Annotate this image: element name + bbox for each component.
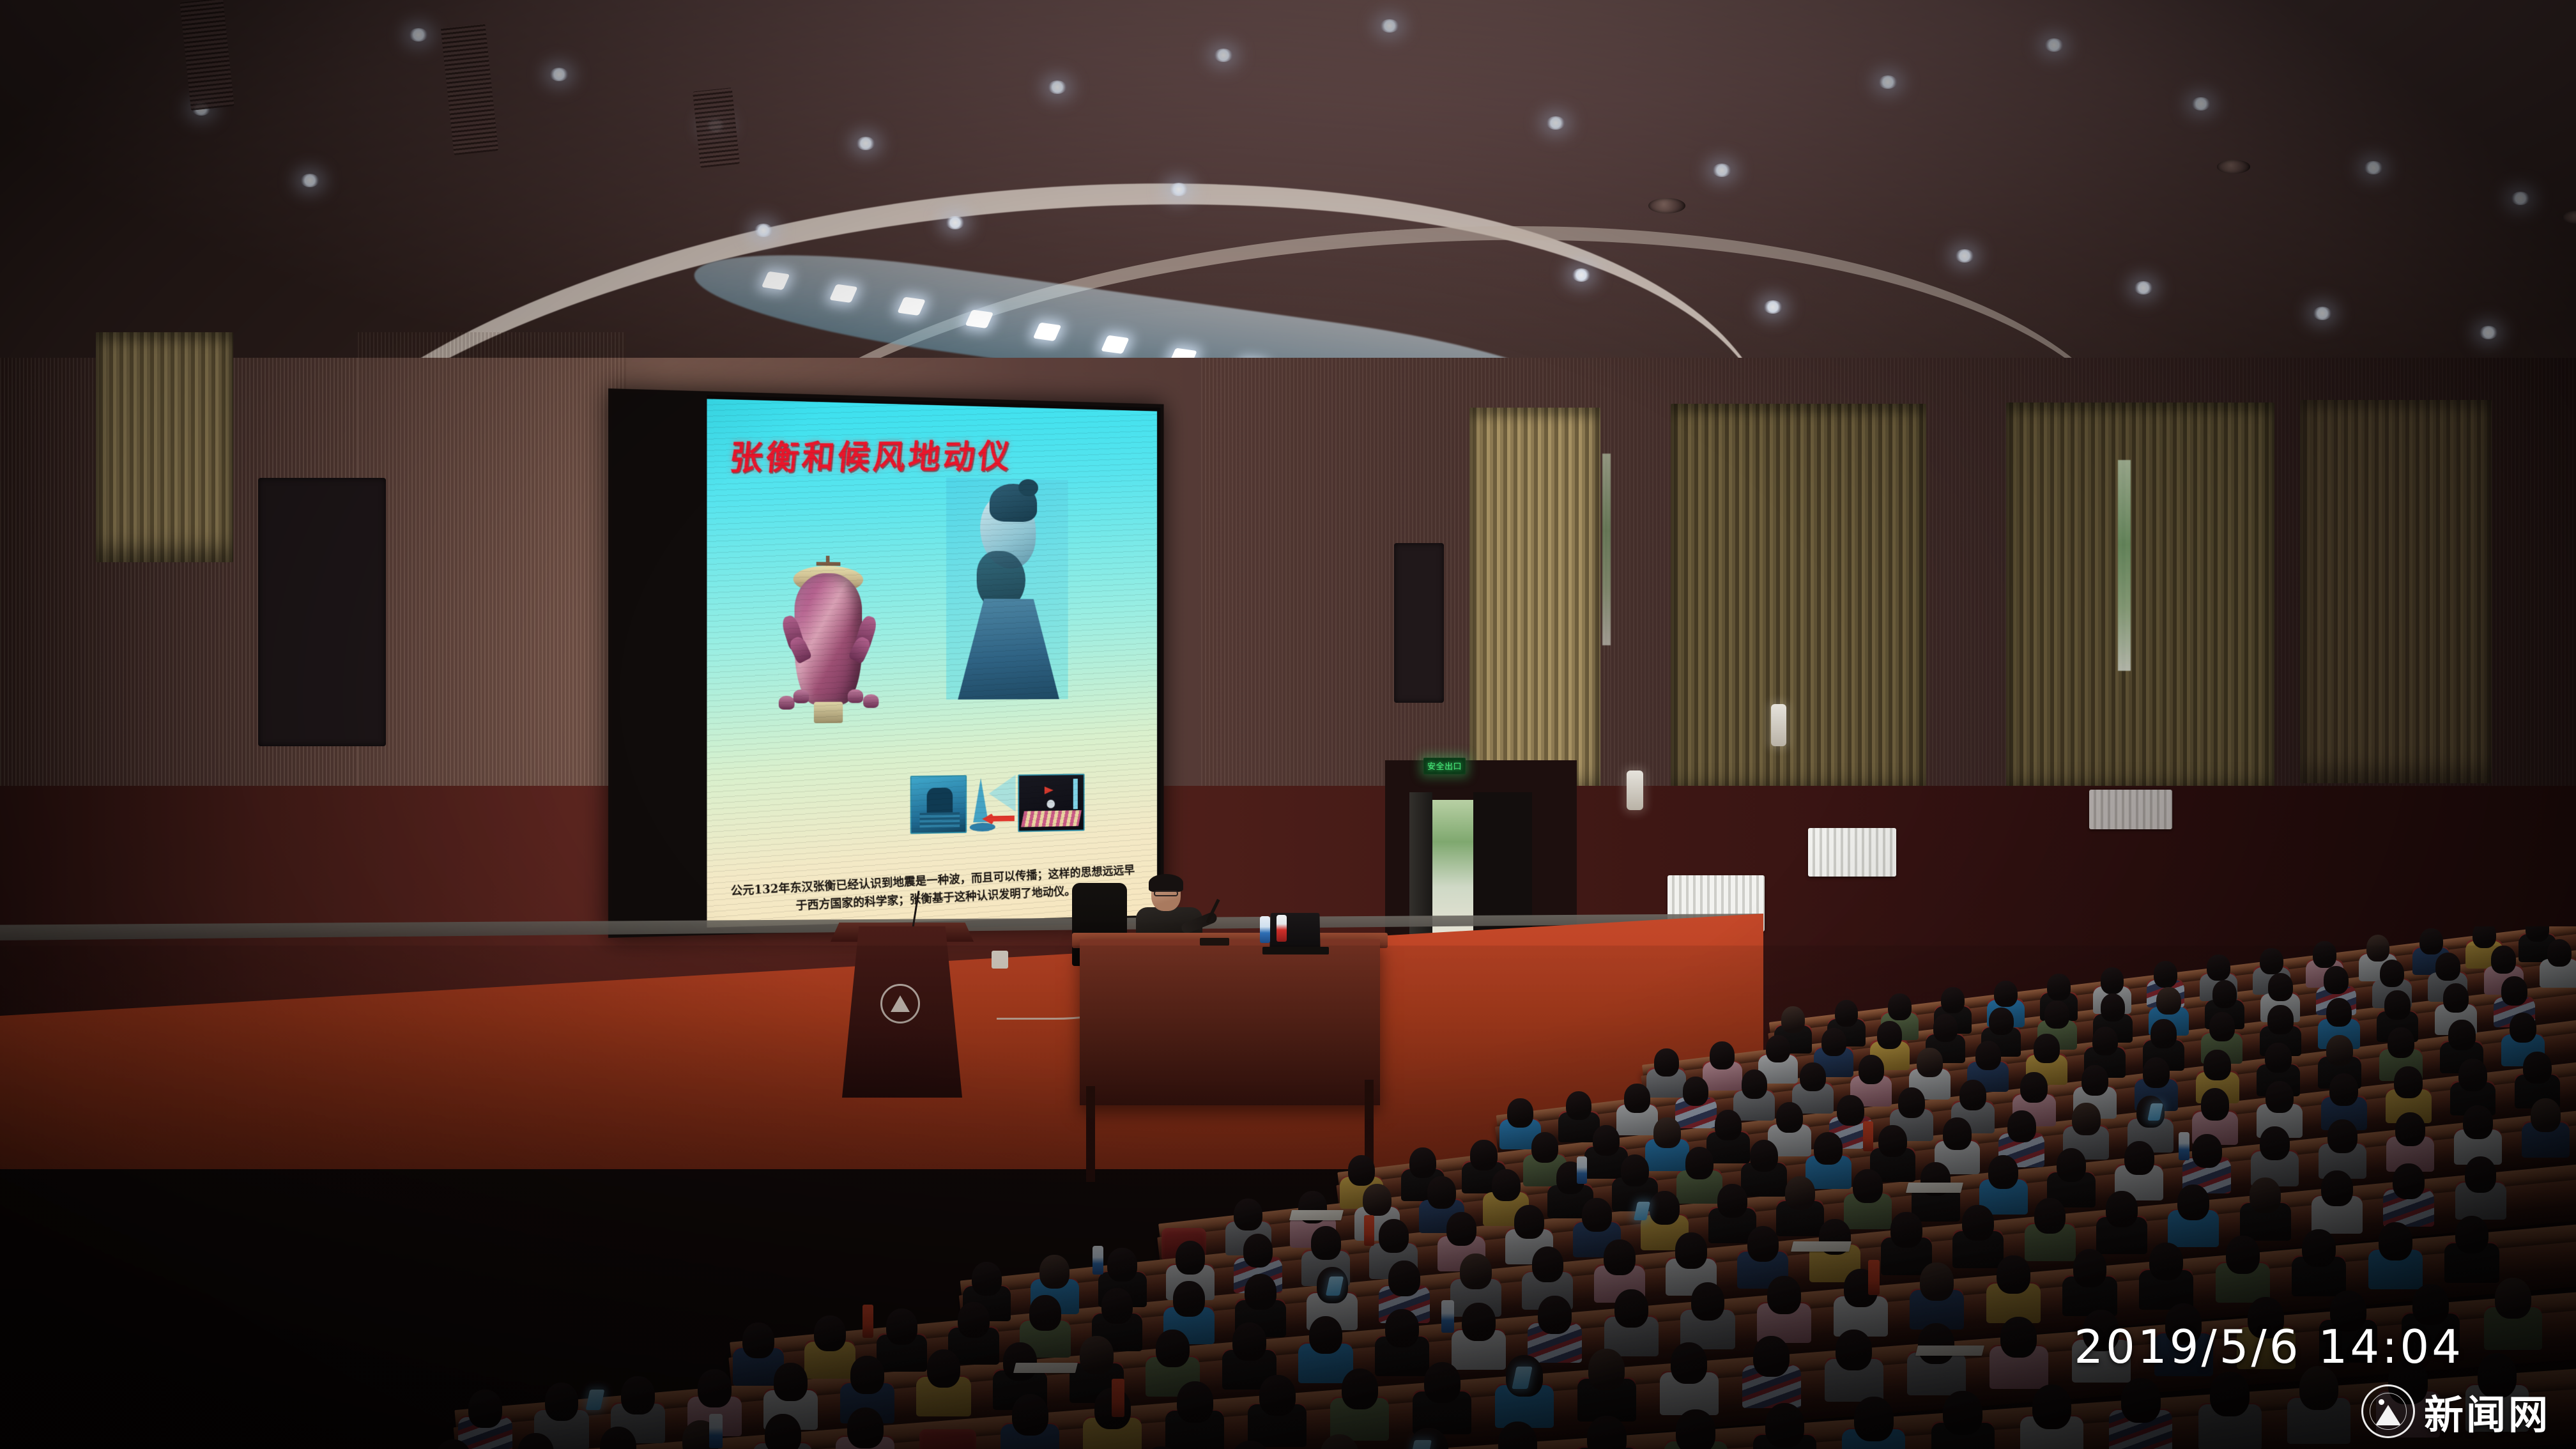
downlight — [2313, 307, 2332, 320]
photo-timestamp: 2019/5/6 14:04 — [2074, 1320, 2464, 1374]
audience-head — [1878, 1125, 1907, 1157]
downlight — [1169, 183, 1188, 196]
wall-sconce-door — [1627, 770, 1643, 810]
audience-head — [1683, 1077, 1708, 1106]
water-bottle — [709, 1414, 723, 1449]
audience-head — [1342, 1368, 1378, 1409]
audience-head — [1309, 1316, 1343, 1354]
audience-head — [1446, 1212, 1476, 1246]
thermos-bottle — [1112, 1379, 1124, 1417]
audience-head — [2465, 1156, 2497, 1192]
audience-head — [1039, 1255, 1069, 1289]
audience-head — [2380, 960, 2405, 988]
audience-head — [1379, 1219, 1409, 1253]
presentation-slide: 张衡和候风地动仪 — [707, 399, 1157, 927]
audience-head — [1176, 1241, 1206, 1275]
audience-head — [2268, 973, 2293, 1001]
audience-head — [2210, 1372, 2250, 1416]
audience-head — [2495, 1278, 2531, 1319]
audience-head — [1462, 1303, 1496, 1341]
audience-head — [1348, 1155, 1375, 1186]
audience-head — [1243, 1234, 1273, 1268]
downlight — [2364, 161, 2383, 174]
water-bottle — [1092, 1246, 1103, 1275]
toad-left-1 — [778, 696, 794, 710]
audience-head — [1101, 1288, 1133, 1324]
audience-head — [1388, 1261, 1420, 1296]
audience-head — [2501, 976, 2527, 1006]
audience-head — [2121, 1378, 2161, 1423]
audience-head — [2250, 1177, 2281, 1213]
audience-head — [2458, 1059, 2487, 1091]
paper-sheet — [1791, 1241, 1851, 1252]
audience-head — [1259, 1375, 1296, 1416]
audience-head — [2073, 1249, 2107, 1287]
curtain-left — [96, 332, 233, 562]
downlight — [1878, 75, 1897, 89]
downlight — [1214, 49, 1233, 62]
toad-right-1 — [847, 689, 862, 703]
audience-head — [545, 1383, 579, 1421]
audience-head — [2448, 1020, 2475, 1050]
downlight — [1712, 164, 1731, 177]
audience-head — [1814, 1132, 1843, 1164]
audience-head — [1424, 1362, 1460, 1403]
audience-head — [1853, 1169, 1883, 1203]
downlight — [409, 28, 428, 42]
thermos-bottle — [862, 1305, 873, 1338]
lecture-hall-photo: 安全出口 张衡和候风地动仪 — [0, 0, 2576, 1449]
audience-head — [1785, 1176, 1815, 1210]
screen-black-mask — [612, 392, 707, 934]
audience-head — [2204, 1050, 2230, 1080]
ceiling-air-vent — [180, 0, 234, 111]
wall-speaker-panel-left — [258, 478, 386, 746]
audience-head — [1507, 1098, 1533, 1128]
audience-head — [1888, 993, 1912, 1020]
audience-head — [1470, 1140, 1497, 1170]
audience-head — [1747, 1226, 1779, 1262]
audience-head — [1003, 1342, 1037, 1381]
audience-head — [1742, 1069, 1767, 1099]
audience-head — [1837, 1095, 1864, 1126]
audience-head — [1566, 1091, 1591, 1121]
audience-head — [1029, 1295, 1061, 1331]
water-bottle — [2179, 1132, 2189, 1161]
audience-head — [2379, 1222, 2412, 1261]
audience-head — [2092, 1027, 2118, 1056]
thumbnail-experiment-photo — [1018, 774, 1084, 832]
audience-head — [2007, 1110, 2036, 1142]
seismograph-illustration — [778, 548, 880, 736]
audience-head — [468, 1390, 502, 1428]
downlight — [549, 68, 569, 81]
audience-head — [1988, 1155, 2018, 1189]
audience-head — [2150, 1019, 2176, 1048]
downlight — [2191, 97, 2211, 111]
audience-head — [1854, 1397, 1894, 1441]
ceiling-air-vent — [693, 88, 740, 168]
audience-head — [927, 1349, 961, 1388]
thumbnail-red-marker — [1044, 786, 1053, 795]
thumbnail-vertical-bar — [1073, 779, 1077, 809]
audience-head — [1975, 1041, 2001, 1070]
audience-head — [2455, 1216, 2489, 1254]
audience-head — [2472, 926, 2496, 948]
audience-head — [2366, 935, 2390, 962]
audience-head — [1492, 1169, 1521, 1201]
audience-head — [1385, 1309, 1419, 1347]
university-logo-icon — [2361, 1384, 2415, 1438]
audience-head — [2081, 1065, 2108, 1096]
radiator-2 — [1808, 828, 1896, 877]
audience-head — [1959, 1080, 1986, 1110]
wall-sconce-right — [1771, 704, 1786, 746]
audience-head — [1943, 1391, 1982, 1436]
audience-head — [1800, 1062, 1825, 1092]
downlight — [856, 137, 875, 150]
audience-head — [2226, 1236, 2260, 1274]
paper-sheet — [1906, 1183, 1963, 1193]
audience-head — [1776, 1102, 1803, 1133]
audience-head — [2124, 1141, 2154, 1175]
ceiling-speaker — [2217, 160, 2250, 174]
audience-head — [1750, 1140, 1779, 1172]
audience-head — [2000, 1317, 2037, 1358]
thumbnail-tray — [1021, 810, 1082, 827]
audience-head — [2321, 1170, 2353, 1206]
audience-head — [2326, 998, 2352, 1027]
audience-head — [2463, 1105, 2493, 1139]
audience-head — [2384, 990, 2410, 1020]
audience-head — [2020, 1072, 2047, 1103]
audience-head — [1107, 1248, 1137, 1282]
seismograph-base — [814, 702, 843, 723]
audience-head — [2302, 1229, 2336, 1268]
portrait-topknot — [1018, 479, 1038, 496]
exit-sign-label: 安全出口 — [1427, 762, 1462, 770]
audience-head — [2044, 1000, 2069, 1029]
audience-head — [1877, 1021, 1902, 1049]
downlight — [1572, 268, 1591, 282]
audience-head — [1234, 1199, 1262, 1230]
audience-head — [1898, 1087, 1925, 1118]
downlight — [300, 174, 319, 187]
toad-right-2 — [863, 694, 878, 709]
water-bottle — [1441, 1300, 1454, 1333]
audience-head — [1675, 1232, 1707, 1268]
audience-head — [1624, 1084, 1650, 1113]
audience-head — [2265, 1043, 2292, 1073]
audience-head — [2435, 953, 2460, 981]
audience-head — [1311, 1226, 1341, 1260]
audience-head — [1653, 1117, 1680, 1148]
audience-head — [2106, 1191, 2138, 1227]
audience-head — [1532, 1246, 1564, 1282]
audience-head — [2192, 1134, 2222, 1168]
audience-head — [1582, 1198, 1612, 1232]
audience-head — [2265, 1081, 2294, 1113]
audience-head — [2209, 1012, 2235, 1041]
audience-head — [850, 1356, 884, 1394]
audience-head — [847, 1407, 884, 1448]
audience-head — [1765, 1403, 1805, 1448]
audience-head — [2260, 1126, 2290, 1160]
audience-head — [2327, 1119, 2357, 1153]
audience-head — [1671, 1342, 1707, 1383]
downlight — [754, 224, 773, 237]
red-arrow-shaft — [992, 816, 1015, 822]
curtain-window-1 — [1469, 408, 1600, 797]
audience-head — [1943, 1117, 1972, 1149]
downlight — [2479, 326, 2498, 339]
paper-sheet — [1289, 1210, 1344, 1220]
audience-head — [1685, 1147, 1714, 1179]
audience-head — [1245, 1274, 1276, 1310]
audience-head — [2101, 967, 2124, 994]
audience-head — [1753, 1336, 1790, 1377]
wave-wedge-icon — [989, 775, 1016, 812]
audience-head — [2510, 1013, 2536, 1043]
audience-head — [1012, 1394, 1048, 1435]
audience-head — [1836, 1330, 1872, 1370]
cove-square-light — [897, 297, 926, 316]
audience-head — [2072, 1103, 2101, 1135]
audience-head — [1363, 1184, 1391, 1216]
red-arrow-head — [982, 813, 993, 825]
window-daylight-slit — [2118, 460, 2131, 671]
curtain-window-3 — [2006, 402, 2274, 799]
toad-left-2 — [793, 689, 809, 703]
audience-head — [1918, 1323, 1954, 1364]
thumbnail-model-steps — [920, 812, 960, 827]
audience-head — [1531, 1132, 1558, 1163]
logo-inner-ring — [2370, 1393, 2407, 1430]
audience-head — [698, 1369, 732, 1407]
downlight — [2511, 192, 2530, 205]
seismograph-vessel — [794, 573, 862, 705]
news-watermark: 新闻网 — [2361, 1383, 2550, 1440]
audience-head — [2394, 1066, 2423, 1098]
cove-square-light — [762, 272, 790, 290]
downlight — [1763, 300, 1782, 314]
cove-square-light — [829, 284, 858, 303]
cove-square-light — [965, 310, 994, 328]
downlight — [2044, 38, 2064, 52]
audience-head — [886, 1308, 918, 1344]
audience-head — [1588, 1349, 1625, 1390]
water-bottle — [1577, 1156, 1587, 1184]
cove-square-light — [1033, 323, 1062, 341]
audience-head — [814, 1315, 846, 1351]
downlight — [1380, 19, 1399, 33]
audience-head — [2057, 1148, 2087, 1182]
cove-square-light — [1101, 335, 1130, 354]
thermos-bottle — [1863, 1121, 1873, 1151]
audience-head — [1614, 1289, 1648, 1328]
audience-head — [2326, 1035, 2353, 1066]
seat — [919, 1429, 976, 1449]
audience-head — [2523, 1052, 2552, 1084]
speaker-glasses — [1154, 891, 1178, 896]
audience-head — [1156, 1330, 1190, 1368]
audience-head — [2201, 1088, 2230, 1120]
audience-head — [1676, 1409, 1715, 1449]
logo-dot-glyph — [2379, 1399, 2384, 1405]
audience-head — [1710, 1041, 1735, 1069]
curtain-window-2 — [1671, 404, 1926, 800]
audience-head — [2032, 1384, 2072, 1429]
audience-head — [1989, 1008, 2014, 1036]
news-site-name: 新闻网 — [2424, 1383, 2550, 1440]
audience-head — [1917, 1048, 1942, 1077]
audience-head — [958, 1302, 990, 1338]
audience-head — [1604, 1239, 1636, 1275]
audience-head — [2393, 1163, 2425, 1199]
downlight — [1955, 249, 1974, 263]
audience-head — [2329, 1073, 2358, 1105]
thumbnail-pendulum-ball — [1046, 800, 1055, 809]
downlight — [946, 216, 965, 229]
window-daylight-slit-2 — [1602, 454, 1611, 645]
downlight — [2134, 281, 2153, 295]
audience-head — [1691, 1282, 1725, 1321]
audience-head — [1781, 1006, 1805, 1033]
downlight — [1546, 116, 1565, 130]
audience-head — [1859, 1055, 1884, 1084]
paper-sheet — [1013, 1363, 1078, 1373]
audience-head — [1232, 1322, 1266, 1361]
slide-title: 张衡和候风地动仪 — [728, 429, 1015, 480]
audience-head — [2034, 1198, 2066, 1234]
audience-head — [2267, 1005, 2293, 1034]
audience-head — [1933, 1014, 1958, 1042]
audience-head — [2101, 993, 2126, 1022]
thermos-bottle — [1868, 1260, 1880, 1295]
audience-head — [1717, 1184, 1747, 1218]
audience-head — [2443, 983, 2469, 1013]
audience-head — [765, 1414, 801, 1449]
audience-head — [2149, 1243, 2183, 1281]
audience-head — [1962, 1205, 1994, 1241]
audience-head — [2324, 966, 2349, 994]
downlight — [1048, 80, 1067, 94]
audience-head — [1538, 1296, 1572, 1334]
audience-head — [1427, 1176, 1456, 1208]
audience-head — [2260, 948, 2283, 975]
audience-head — [2154, 961, 2177, 988]
audience-head — [2412, 1284, 2449, 1325]
speaker-hair — [1149, 874, 1183, 892]
audience-head — [2177, 1184, 2209, 1220]
audience-head — [621, 1376, 655, 1414]
audience-head — [1409, 1147, 1436, 1178]
audience-head — [1767, 1276, 1801, 1314]
audience-head — [2313, 941, 2336, 968]
logo-mountain-glyph — [2375, 1405, 2401, 1425]
red-arrow-icon — [982, 812, 1015, 825]
audience-head — [2419, 928, 2443, 955]
audience-head — [1177, 1381, 1213, 1422]
audience-head — [1920, 1262, 1954, 1301]
audience-head — [774, 1363, 808, 1401]
exit-sign: 安全出口 — [1423, 758, 1466, 774]
thermos-bottle — [1364, 1215, 1374, 1246]
audience-head — [2531, 1098, 2561, 1132]
audience-head — [2047, 974, 2071, 1000]
audience-head — [1890, 1212, 1922, 1248]
projection-screen: 张衡和候风地动仪 — [608, 388, 1164, 938]
audience-head — [2547, 939, 2572, 967]
audience-head — [1650, 1191, 1680, 1225]
paper-sheet — [1915, 1345, 1984, 1356]
wall-speaker-panel-center — [1394, 543, 1444, 703]
audience-head — [2212, 980, 2237, 1008]
curtain-window-4 — [2300, 400, 2492, 783]
audience-head — [972, 1262, 1002, 1296]
audience-head — [1080, 1336, 1114, 1374]
audience-head — [1835, 1000, 1859, 1027]
audience-head — [1766, 1035, 1791, 1063]
audience-head — [2034, 1034, 2059, 1063]
thumbnail-seismograph-model — [910, 775, 967, 834]
audience-head — [2143, 1057, 2170, 1088]
audience-head — [2491, 946, 2516, 974]
audience-head — [1941, 987, 1965, 1014]
portrait-robe — [957, 599, 1061, 700]
audience-head — [742, 1322, 774, 1358]
audience-head — [2395, 1112, 2425, 1146]
audience-head — [2207, 954, 2230, 981]
radiator-3 — [2089, 790, 2172, 829]
audience-head — [2156, 987, 2181, 1015]
audience-head — [1514, 1205, 1544, 1239]
audience-head — [1593, 1125, 1620, 1156]
audience-head — [2388, 1027, 2414, 1058]
audience-head — [1621, 1154, 1650, 1186]
audience-head — [1997, 1255, 2030, 1294]
audience-head — [1654, 1048, 1679, 1077]
audience-head — [1460, 1253, 1492, 1289]
zhang-heng-portrait — [946, 478, 1068, 700]
audience-head — [1715, 1110, 1742, 1140]
audience-head — [1173, 1281, 1205, 1317]
audience-head — [1821, 1028, 1846, 1056]
audience-head — [1994, 981, 2018, 1008]
ceiling-air-vent — [441, 24, 499, 155]
